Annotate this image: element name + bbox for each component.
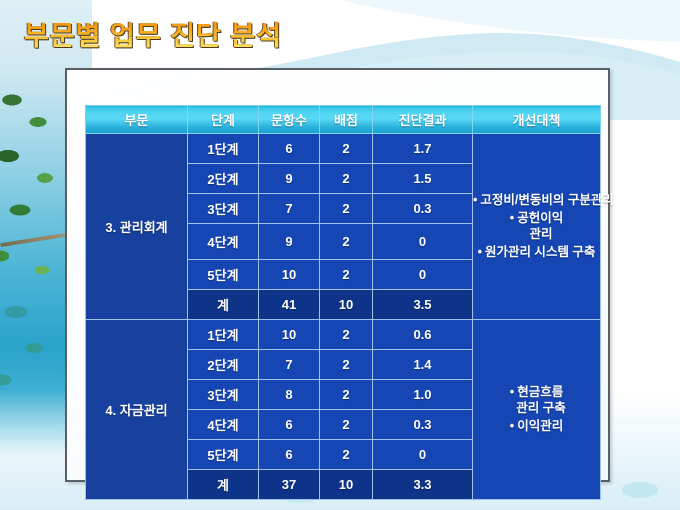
diagnosis-table-wrapper: 부문 단계 문항수 배점 진단결과 개선대책 3. 관리회계 1단계 6 2 1… xyxy=(85,105,600,500)
measures-cell-1: 현금흐름관리 구축 이익관리 xyxy=(473,320,601,500)
score-cell: 2 xyxy=(320,410,373,440)
count-cell: 6 xyxy=(259,134,320,164)
sector-label-0: 3. 관리회계 xyxy=(86,134,188,320)
table-body: 3. 관리회계 1단계 6 2 1.7 고정비/변동비의 구분관리 공헌이익관리… xyxy=(86,134,601,500)
column-header-sector: 부문 xyxy=(86,106,188,134)
score-cell: 2 xyxy=(320,134,373,164)
measures-cell-0: 고정비/변동비의 구분관리 공헌이익관리 원가관리 시스템 구축 xyxy=(473,134,601,320)
measure-item: 고정비/변동비의 구분관리 xyxy=(473,192,600,209)
score-cell: 2 xyxy=(320,440,373,470)
stage-cell: 2단계 xyxy=(188,350,259,380)
table-head: 부문 단계 문항수 배점 진단결과 개선대책 xyxy=(86,106,601,134)
count-cell: 6 xyxy=(259,440,320,470)
stage-cell: 5단계 xyxy=(188,440,259,470)
total-result-cell: 3.5 xyxy=(373,290,473,320)
slide-canvas: 부문별 업무 진단 분석 부문 단계 문항수 배점 진단결과 개선대책 xyxy=(0,0,680,510)
column-header-count: 문항수 xyxy=(259,106,320,134)
total-score-cell: 10 xyxy=(320,470,373,500)
page-title: 부문별 업무 진단 분석 xyxy=(24,14,282,53)
count-cell: 9 xyxy=(259,164,320,194)
score-cell: 2 xyxy=(320,164,373,194)
total-count-cell: 37 xyxy=(259,470,320,500)
score-cell: 2 xyxy=(320,380,373,410)
count-cell: 8 xyxy=(259,380,320,410)
total-label-cell: 계 xyxy=(188,470,259,500)
score-cell: 2 xyxy=(320,194,373,224)
column-header-stage: 단계 xyxy=(188,106,259,134)
stage-cell: 5단계 xyxy=(188,260,259,290)
total-label-cell: 계 xyxy=(188,290,259,320)
result-cell: 0 xyxy=(373,260,473,290)
measures-list-0: 고정비/변동비의 구분관리 공헌이익관리 원가관리 시스템 구축 xyxy=(473,192,600,260)
table-row: 3. 관리회계 1단계 6 2 1.7 고정비/변동비의 구분관리 공헌이익관리… xyxy=(86,134,601,164)
stage-cell: 4단계 xyxy=(188,410,259,440)
stage-cell: 3단계 xyxy=(188,194,259,224)
count-cell: 10 xyxy=(259,320,320,350)
count-cell: 10 xyxy=(259,260,320,290)
score-cell: 2 xyxy=(320,260,373,290)
sector-label-1: 4. 자금관리 xyxy=(86,320,188,500)
count-cell: 7 xyxy=(259,350,320,380)
result-cell: 1.7 xyxy=(373,134,473,164)
total-result-cell: 3.3 xyxy=(373,470,473,500)
count-cell: 9 xyxy=(259,224,320,260)
measures-list-1: 현금흐름관리 구축 이익관리 xyxy=(473,384,600,435)
count-cell: 6 xyxy=(259,410,320,440)
result-cell: 1.5 xyxy=(373,164,473,194)
total-score-cell: 10 xyxy=(320,290,373,320)
result-cell: 0.3 xyxy=(373,194,473,224)
measure-item: 공헌이익관리 xyxy=(473,210,600,243)
measure-item: 현금흐름관리 구축 xyxy=(473,384,600,417)
stage-cell: 1단계 xyxy=(188,134,259,164)
result-cell: 0.3 xyxy=(373,410,473,440)
diagnosis-table: 부문 단계 문항수 배점 진단결과 개선대책 3. 관리회계 1단계 6 2 1… xyxy=(85,105,601,500)
stage-cell: 4단계 xyxy=(188,224,259,260)
table-row: 4. 자금관리 1단계 10 2 0.6 현금흐름관리 구축 이익관리 xyxy=(86,320,601,350)
result-cell: 1.4 xyxy=(373,350,473,380)
result-cell: 0 xyxy=(373,440,473,470)
column-header-measure: 개선대책 xyxy=(473,106,601,134)
score-cell: 2 xyxy=(320,224,373,260)
measure-item: 원가관리 시스템 구축 xyxy=(473,244,600,261)
table-header-row: 부문 단계 문항수 배점 진단결과 개선대책 xyxy=(86,106,601,134)
stage-cell: 2단계 xyxy=(188,164,259,194)
count-cell: 7 xyxy=(259,194,320,224)
measure-item: 이익관리 xyxy=(473,418,600,435)
column-header-score: 배점 xyxy=(320,106,373,134)
stage-cell: 3단계 xyxy=(188,380,259,410)
score-cell: 2 xyxy=(320,320,373,350)
result-cell: 1.0 xyxy=(373,380,473,410)
result-cell: 0 xyxy=(373,224,473,260)
score-cell: 2 xyxy=(320,350,373,380)
total-count-cell: 41 xyxy=(259,290,320,320)
stage-cell: 1단계 xyxy=(188,320,259,350)
column-header-result: 진단결과 xyxy=(373,106,473,134)
result-cell: 0.6 xyxy=(373,320,473,350)
